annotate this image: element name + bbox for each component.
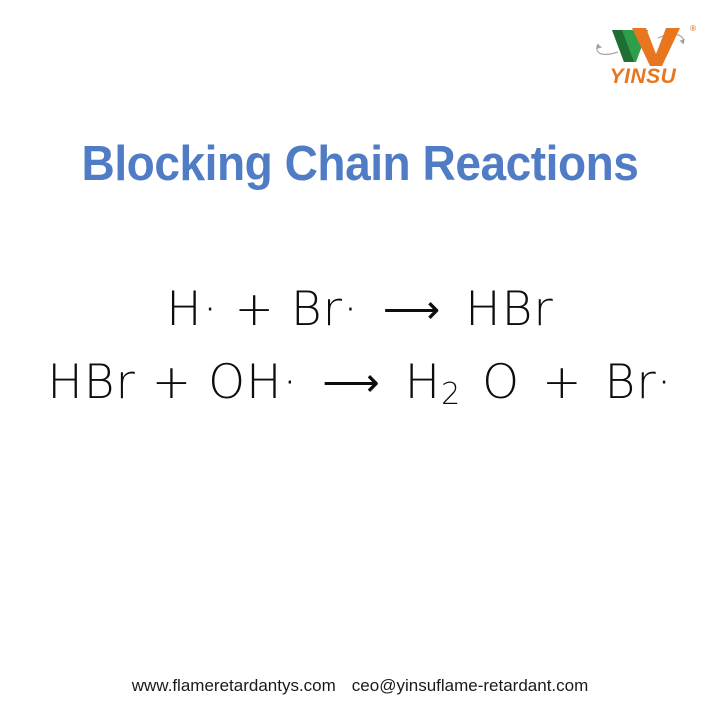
equation-1-reactants: H· + Br· bbox=[166, 282, 359, 337]
equation-2-reactants: HBr + OH· bbox=[47, 355, 298, 410]
footer-email[interactable]: ceo@yinsuflame-retardant.com bbox=[352, 676, 588, 695]
slide-canvas: YINSU ® Blocking Chain Reactions H· + Br… bbox=[0, 0, 720, 720]
equation-1: H· + Br·⟶HBr bbox=[0, 286, 720, 333]
yinsu-wordmark: YINSU bbox=[588, 66, 698, 87]
equation-2-product-subscript: 2 bbox=[441, 377, 460, 412]
equations-block: H· + Br·⟶HBr HBr + OH·⟶H2O+Br· bbox=[0, 286, 720, 410]
page-title: Blocking Chain Reactions bbox=[22, 138, 699, 192]
equation-2-plus: + bbox=[542, 355, 582, 410]
yinsu-logo: YINSU ® bbox=[588, 22, 698, 94]
footer-website[interactable]: www.flameretardantys.com bbox=[132, 676, 336, 695]
reaction-arrow-icon: ⟶ bbox=[320, 360, 382, 406]
equation-2-product-o: O bbox=[482, 355, 520, 410]
equation-2-product-br: Br· bbox=[605, 355, 673, 410]
equation-2: HBr + OH·⟶H2O+Br· bbox=[0, 359, 720, 410]
reaction-arrow-icon: ⟶ bbox=[381, 287, 443, 333]
yinsu-logo-mark-icon bbox=[588, 22, 698, 70]
equation-2-product-h: H bbox=[405, 355, 441, 410]
equation-1-products: HBr bbox=[465, 282, 553, 337]
footer-contact: www.flameretardantys.comceo@yinsuflame-r… bbox=[0, 676, 720, 696]
registered-mark-icon: ® bbox=[690, 24, 696, 33]
